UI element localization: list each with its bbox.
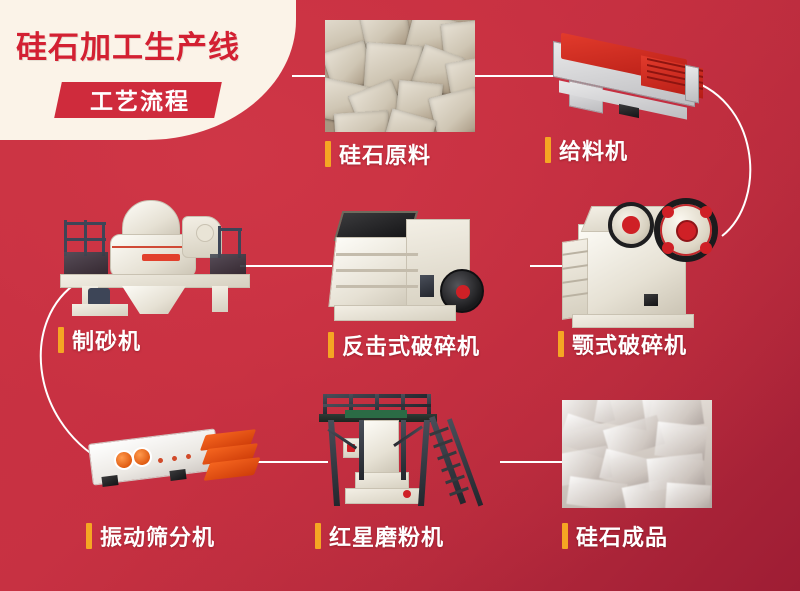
caption-vibrating-screen: 振动筛分机 xyxy=(86,520,215,552)
flowchart-canvas: 硅石加工生产线 工艺流程 硅石原料 xyxy=(0,0,800,591)
caption-feeder: 给料机 xyxy=(545,134,628,166)
node-vibrating-screen[interactable]: 振动筛分机 xyxy=(86,418,266,510)
caption-grinding-mill: 红星磨粉机 xyxy=(315,520,444,552)
label-sand-maker: 制砂机 xyxy=(72,324,141,356)
connector-mill-to-product xyxy=(500,461,562,463)
caption-marker-icon xyxy=(545,137,551,163)
caption-marker-icon xyxy=(325,141,331,167)
caption-marker-icon xyxy=(562,523,568,549)
node-jaw-crusher[interactable]: 颚式破碎机 xyxy=(558,198,738,332)
node-grinding-mill[interactable]: 红星磨粉机 xyxy=(315,388,495,516)
label-vibrating-screen: 振动筛分机 xyxy=(100,520,215,552)
impact-crusher xyxy=(328,205,503,327)
label-grinding-mill: 红星磨粉机 xyxy=(329,520,444,552)
caption-jaw-crusher: 颚式破碎机 xyxy=(558,328,687,360)
label-raw-material: 硅石原料 xyxy=(339,138,431,170)
node-feeder[interactable]: 给料机 xyxy=(545,32,715,128)
jaw-crusher xyxy=(558,198,738,332)
caption-marker-icon xyxy=(558,331,564,357)
label-impact-crusher: 反击式破碎机 xyxy=(342,329,480,361)
caption-marker-icon xyxy=(86,523,92,549)
rock-pile-photo xyxy=(325,20,475,132)
label-jaw-crusher: 颚式破碎机 xyxy=(572,328,687,360)
connector-raw-to-feeder-left xyxy=(292,75,328,77)
label-feeder: 给料机 xyxy=(559,134,628,166)
connector-raw-to-feeder-right xyxy=(470,75,556,77)
page-subtitle: 工艺流程 xyxy=(70,86,210,116)
caption-raw-material: 硅石原料 xyxy=(325,138,431,170)
label-finished-product: 硅石成品 xyxy=(576,520,668,552)
node-sand-maker[interactable]: 制砂机 xyxy=(58,196,258,318)
node-finished-product[interactable]: 硅石成品 xyxy=(562,400,712,508)
caption-sand-maker: 制砂机 xyxy=(58,324,141,356)
silica-powder-photo xyxy=(562,400,712,508)
node-raw-material[interactable]: 硅石原料 xyxy=(325,20,475,132)
caption-marker-icon xyxy=(328,332,334,358)
caption-marker-icon xyxy=(315,523,321,549)
raymond-grinding-mill xyxy=(315,388,495,516)
title-panel xyxy=(0,0,296,140)
page-title: 硅石加工生产线 xyxy=(16,22,240,67)
vibrating-screen xyxy=(86,418,266,510)
caption-marker-icon xyxy=(58,327,64,353)
node-impact-crusher[interactable]: 反击式破碎机 xyxy=(328,205,503,327)
sand-making-machine xyxy=(58,196,258,318)
vibrating-feeder xyxy=(545,32,715,128)
caption-finished-product: 硅石成品 xyxy=(562,520,668,552)
caption-impact-crusher: 反击式破碎机 xyxy=(328,329,480,361)
